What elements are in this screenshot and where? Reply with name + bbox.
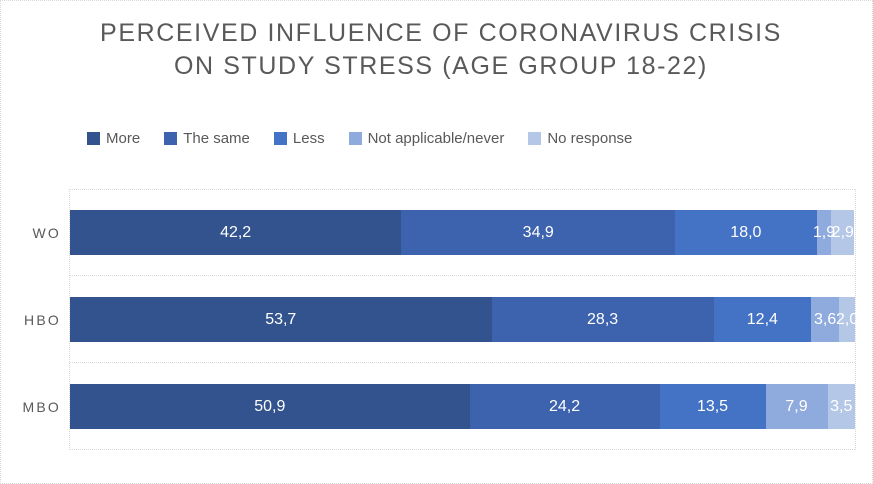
bar-value-label: 42,2	[220, 225, 251, 241]
bar-row: 50,924,213,57,93,5	[70, 384, 855, 429]
legend-label: More	[106, 131, 140, 146]
bar-value-label: 34,9	[523, 225, 554, 241]
bar-segment[interactable]: 1,9	[817, 210, 832, 255]
bar-segment[interactable]: 2,9	[831, 210, 854, 255]
bar-value-label: 28,3	[587, 312, 618, 328]
bar-value-label: 12,4	[747, 312, 778, 328]
legend-swatch-icon	[87, 132, 100, 145]
bar-segment[interactable]: 12,4	[714, 297, 811, 342]
legend-label: The same	[183, 131, 250, 146]
bar-value-label: 7,9	[785, 399, 807, 415]
bar-row: 42,234,918,01,92,9	[70, 210, 855, 255]
gridline	[70, 449, 855, 450]
legend-item-less[interactable]: Less	[274, 131, 325, 146]
bar-value-label: 50,9	[254, 399, 285, 415]
legend-swatch-icon	[274, 132, 287, 145]
chart-title: PERCEIVED INFLUENCE OF CORONAVIRUS CRISI…	[61, 17, 821, 83]
bar-row: 53,728,312,43,62,0	[70, 297, 855, 342]
plot-area: 42,234,918,01,92,953,728,312,43,62,050,9…	[69, 189, 856, 450]
legend-item-not-applicable-never[interactable]: Not applicable/never	[349, 131, 505, 146]
bar-segment[interactable]: 2,0	[839, 297, 855, 342]
category-label-hbo: HBO	[1, 313, 61, 327]
bar-value-label: 3,6	[814, 312, 836, 328]
gridline	[70, 275, 855, 276]
legend-label: Less	[293, 131, 325, 146]
legend-swatch-icon	[528, 132, 541, 145]
chart-legend: MoreThe sameLessNot applicable/neverNo r…	[87, 131, 632, 146]
bar-value-label: 53,7	[265, 312, 296, 328]
category-label-mbo: MBO	[1, 400, 61, 414]
bar-value-label: 3,5	[830, 399, 852, 415]
legend-label: No response	[547, 131, 632, 146]
bar-segment[interactable]: 53,7	[70, 297, 492, 342]
legend-item-more[interactable]: More	[87, 131, 140, 146]
category-label-wo: WO	[1, 226, 61, 240]
bar-segment[interactable]: 34,9	[401, 210, 675, 255]
legend-label: Not applicable/never	[368, 131, 505, 146]
bar-segment[interactable]: 50,9	[70, 384, 470, 429]
legend-item-no-response[interactable]: No response	[528, 131, 632, 146]
bar-value-label: 18,0	[730, 225, 761, 241]
bar-segment[interactable]: 24,2	[470, 384, 660, 429]
bar-value-label: 13,5	[697, 399, 728, 415]
bar-segment[interactable]: 28,3	[492, 297, 714, 342]
bar-segment[interactable]: 7,9	[766, 384, 828, 429]
legend-swatch-icon	[349, 132, 362, 145]
bar-value-label: 2,0	[836, 312, 858, 328]
bar-value-label: 24,2	[549, 399, 580, 415]
gridline	[70, 362, 855, 363]
bar-segment[interactable]: 18,0	[675, 210, 816, 255]
legend-item-the-same[interactable]: The same	[164, 131, 250, 146]
chart-container: PERCEIVED INFLUENCE OF CORONAVIRUS CRISI…	[0, 0, 873, 484]
gridline	[70, 189, 855, 190]
bar-segment[interactable]: 3,5	[828, 384, 855, 429]
bar-segment[interactable]: 42,2	[70, 210, 401, 255]
bar-value-label: 2,9	[832, 225, 854, 241]
legend-swatch-icon	[164, 132, 177, 145]
bar-segment[interactable]: 13,5	[660, 384, 766, 429]
